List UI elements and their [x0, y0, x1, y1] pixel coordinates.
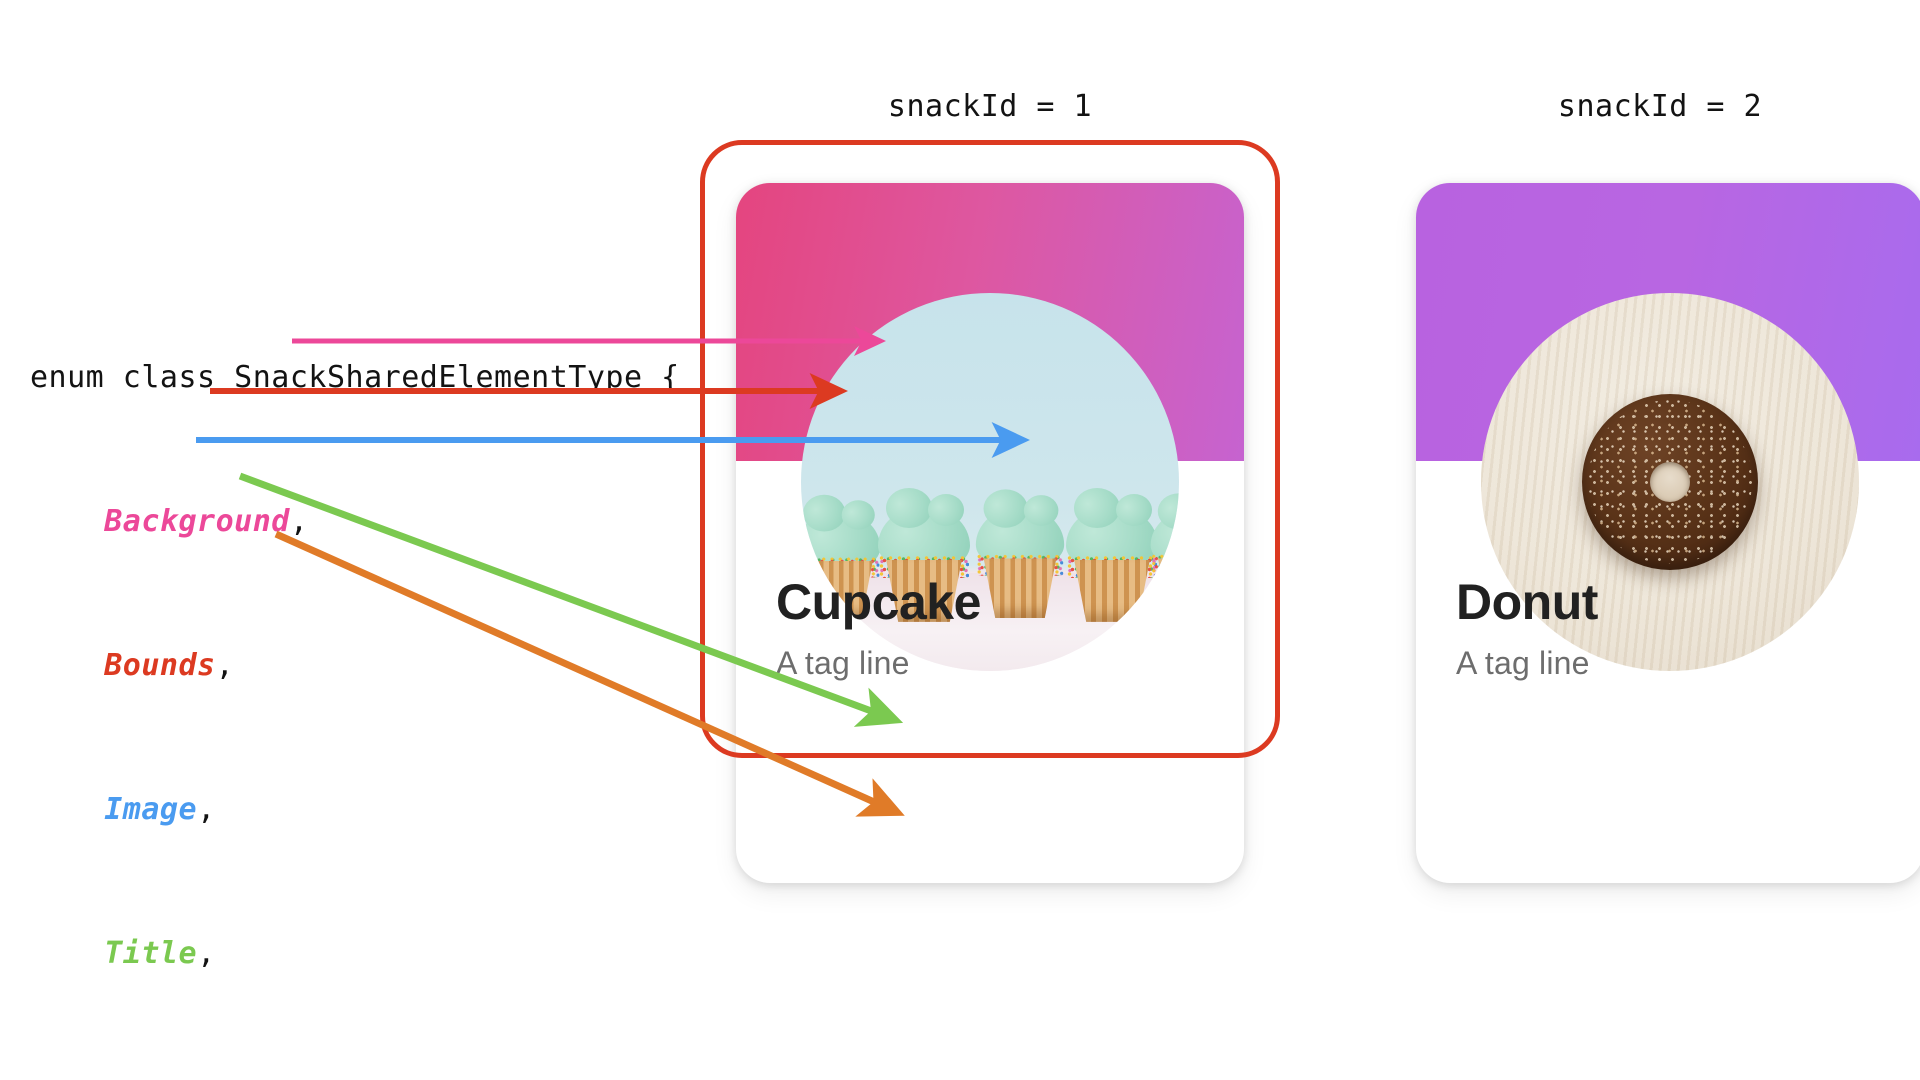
code-line-title: Title,: [30, 930, 680, 978]
diagram-canvas: enum class SnackSharedElementType { Back…: [0, 0, 1920, 1080]
code-line-bounds: Bounds,: [30, 642, 680, 690]
enum-background: Background: [104, 504, 290, 539]
comma-background: ,: [290, 504, 309, 539]
card-tagline: A tag line: [1456, 645, 1590, 682]
donut-hole: [1650, 462, 1690, 502]
code-listing: enum class SnackSharedElementType { Back…: [30, 258, 680, 1080]
card-title: Cupcake: [776, 576, 981, 629]
snack-id-label-1: snackId = 1: [888, 89, 1092, 124]
comma-title: ,: [197, 936, 216, 971]
snack-id-label-2: snackId = 2: [1558, 89, 1762, 124]
code-line-header: enum class SnackSharedElementType {: [30, 354, 680, 402]
code-line-background: Background,: [30, 498, 680, 546]
comma-bounds: ,: [216, 648, 235, 683]
code-line-image: Image,: [30, 786, 680, 834]
code-header-text: enum class SnackSharedElementType {: [30, 360, 680, 395]
donut-glyph: [1582, 394, 1758, 570]
snack-card-cupcake[interactable]: Cupcake A tag line: [736, 183, 1244, 883]
enum-image: Image: [104, 792, 197, 827]
card-title: Donut: [1456, 576, 1598, 629]
enum-title: Title: [104, 936, 197, 971]
snack-card-donut[interactable]: Donut A tag line: [1416, 183, 1920, 883]
enum-bounds: Bounds: [104, 648, 215, 683]
card-tagline: A tag line: [776, 645, 910, 682]
code-line-tagline: Tagline,: [30, 1074, 680, 1080]
comma-image: ,: [197, 792, 216, 827]
